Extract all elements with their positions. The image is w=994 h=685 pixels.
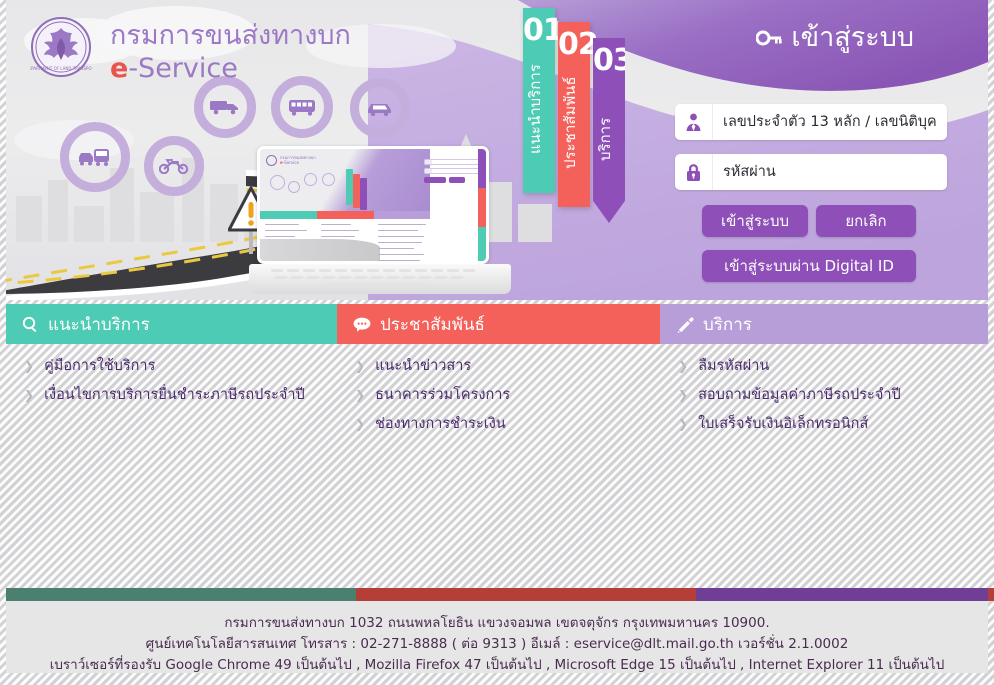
chat-bubble-icon	[478, 188, 489, 227]
digital-id-login-button[interactable]: เข้าสู่ระบบผ่าน Digital ID	[702, 250, 916, 282]
column-link-list: ❯ คู่มือการใช้บริการ ❯ เงื่อนไขการบริการ…	[6, 344, 337, 405]
laptop-keyboard	[271, 269, 487, 289]
user-icon	[675, 104, 713, 140]
column-header-recommend-service: แนะนำบริการ	[6, 304, 337, 344]
list-item[interactable]: ❯ คู่มือการใช้บริการ	[24, 357, 337, 376]
brand-service-name: -Service	[128, 53, 238, 84]
ribbon-label: ประชาสัมพันธ์	[558, 68, 590, 178]
chevron-right-icon: ❯	[355, 415, 365, 434]
gear-icon	[478, 149, 489, 188]
column-public-relations: ประชาสัมพันธ์ ❯ แนะนำข่าวสาร ❯ ธนาคารร่ว…	[337, 304, 660, 444]
ribbon-tab-02[interactable]: 02 ประชาสัมพันธ์	[558, 22, 590, 207]
ribbon-label: แนะนำบริการ	[523, 54, 555, 164]
list-item[interactable]: ❯ เงื่อนไขการบริการยื่นชำระภาษีรถประจำปี	[24, 386, 337, 405]
password-field-row[interactable]	[675, 154, 947, 190]
garuda-seal-icon: DEPARTMENT OF LAND TRANSPORT	[30, 16, 92, 78]
ribbon-number: 02	[558, 30, 590, 60]
column-title: ประชาสัมพันธ์	[380, 311, 485, 338]
login-title-text: เข้าสู่ระบบ	[791, 21, 914, 55]
list-item[interactable]: ❯ สอบถามข้อมูลค่าภาษีรถประจำปี	[678, 386, 988, 405]
national-id-input[interactable]	[713, 104, 947, 140]
column-link-list: ❯ ลืมรหัสผ่าน ❯ สอบถามข้อมูลค่าภาษีรถประ…	[660, 344, 988, 434]
brand-org-name: กรมการขนส่งทางบก	[110, 20, 351, 52]
link-label[interactable]: สอบถามข้อมูลค่าภาษีรถประจำปี	[698, 386, 901, 405]
svg-text:DEPARTMENT OF LAND TRANSPORT: DEPARTMENT OF LAND TRANSPORT	[30, 66, 92, 71]
pencil-icon	[676, 316, 694, 333]
ribbon-tab-03[interactable]: 03 บริการ	[593, 38, 625, 223]
chevron-right-icon: ❯	[24, 357, 34, 376]
list-item[interactable]: ❯ แนะนำข่าวสาร	[355, 357, 660, 376]
brand-logo: DEPARTMENT OF LAND TRANSPORT	[30, 16, 92, 82]
cloud-upload-icon	[478, 227, 489, 264]
lock-icon	[675, 154, 713, 190]
footer-browser-line: เบราว์เซอร์ที่รองรับ Google Chrome 49 เป…	[6, 655, 988, 676]
list-item[interactable]: ❯ ใบเสร็จรับเงินอิเล็กทรอนิกส์	[678, 415, 988, 434]
color-bar-segment-3	[696, 588, 988, 601]
column-title: แนะนำบริการ	[48, 311, 150, 338]
link-label[interactable]: คู่มือการใช้บริการ	[44, 357, 155, 376]
password-input[interactable]	[713, 154, 947, 190]
link-label[interactable]: ลืมรหัสผ่าน	[698, 357, 769, 376]
car-and-bus-icon	[60, 122, 130, 192]
color-bar-segment-2	[356, 588, 696, 601]
link-label[interactable]: แนะนำข่าวสาร	[375, 357, 471, 376]
chevron-right-icon: ❯	[678, 357, 688, 376]
login-submit-button[interactable]: เข้าสู่ระบบ	[702, 205, 808, 237]
ribbon-number: 01	[523, 16, 555, 46]
motorcycle-icon	[144, 136, 204, 196]
laptop-base	[249, 264, 511, 294]
ribbon-label: บริการ	[593, 84, 625, 194]
column-header-public-relations: ประชาสัมพันธ์	[337, 304, 660, 344]
brand-text: กรมการขนส่งทางบก e-Service	[110, 20, 351, 86]
ribbon-number: 03	[593, 46, 625, 76]
key-icon	[756, 30, 782, 46]
login-title: เข้าสู่ระบบ	[756, 21, 914, 55]
login-cancel-button[interactable]: ยกเลิก	[816, 205, 916, 237]
hero-banner: กรมการขนส่งทางบกe-Service	[6, 0, 988, 300]
list-item[interactable]: ❯ ธนาคารร่วมโครงการ	[355, 386, 660, 405]
column-link-list: ❯ แนะนำข่าวสาร ❯ ธนาคารร่วมโครงการ ❯ ช่อ…	[337, 344, 660, 434]
national-id-field-row[interactable]	[675, 104, 947, 140]
link-label[interactable]: ใบเสร็จรับเงินอิเล็กทรอนิกส์	[698, 415, 868, 434]
ribbon-tab-01[interactable]: 01 แนะนำบริการ	[523, 8, 555, 193]
link-label[interactable]: ช่องทางการชำระเงิน	[375, 415, 506, 434]
laptop-screen: กรมการขนส่งทางบกe-Service	[257, 146, 489, 264]
chevron-right-icon: ❯	[355, 357, 365, 376]
footer-color-bar-final	[6, 588, 988, 601]
footer-address-line: กรมการขนส่งทางบก 1032 ถนนพหลโยธิน แขวงจอ…	[6, 613, 988, 634]
chevron-right-icon: ❯	[24, 386, 34, 405]
link-label[interactable]: ธนาคารร่วมโครงการ	[375, 386, 510, 405]
list-item[interactable]: ❯ ช่องทางการชำระเงิน	[355, 415, 660, 434]
color-bar-segment-1	[16, 588, 356, 601]
chevron-right-icon: ❯	[355, 386, 365, 405]
page-footer: กรมการขนส่งทางบก 1032 ถนนพหลโยธิน แขวงจอ…	[6, 601, 988, 673]
search-icon	[22, 316, 39, 333]
chat-bubble-icon	[353, 317, 371, 332]
page-root: กรมการขนส่งทางบกe-Service	[6, 0, 988, 685]
car-icon	[350, 78, 410, 138]
mini-page-preview: กรมการขนส่งทางบกe-Service	[260, 149, 486, 261]
list-item[interactable]: ❯ ลืมรหัสผ่าน	[678, 357, 988, 376]
chevron-right-icon: ❯	[678, 386, 688, 405]
footer-contact-line: ศูนย์เทคโนโลยีสารสนเทศ โทรสาร : 02-271-8…	[6, 634, 988, 655]
column-header-services: บริการ	[660, 304, 988, 344]
column-services: บริการ ❯ ลืมรหัสผ่าน ❯ สอบถามข้อมูลค่าภา…	[660, 304, 988, 444]
laptop-illustration: กรมการขนส่งทางบกe-Service	[249, 146, 511, 294]
brand-e-accent: e	[110, 53, 128, 84]
link-label[interactable]: เงื่อนไขการบริการยื่นชำระภาษีรถประจำปี	[44, 386, 305, 405]
column-recommend-service: แนะนำบริการ ❯ คู่มือการใช้บริการ ❯ เงื่อ…	[6, 304, 337, 415]
column-title: บริการ	[703, 311, 752, 338]
chevron-right-icon: ❯	[678, 415, 688, 434]
